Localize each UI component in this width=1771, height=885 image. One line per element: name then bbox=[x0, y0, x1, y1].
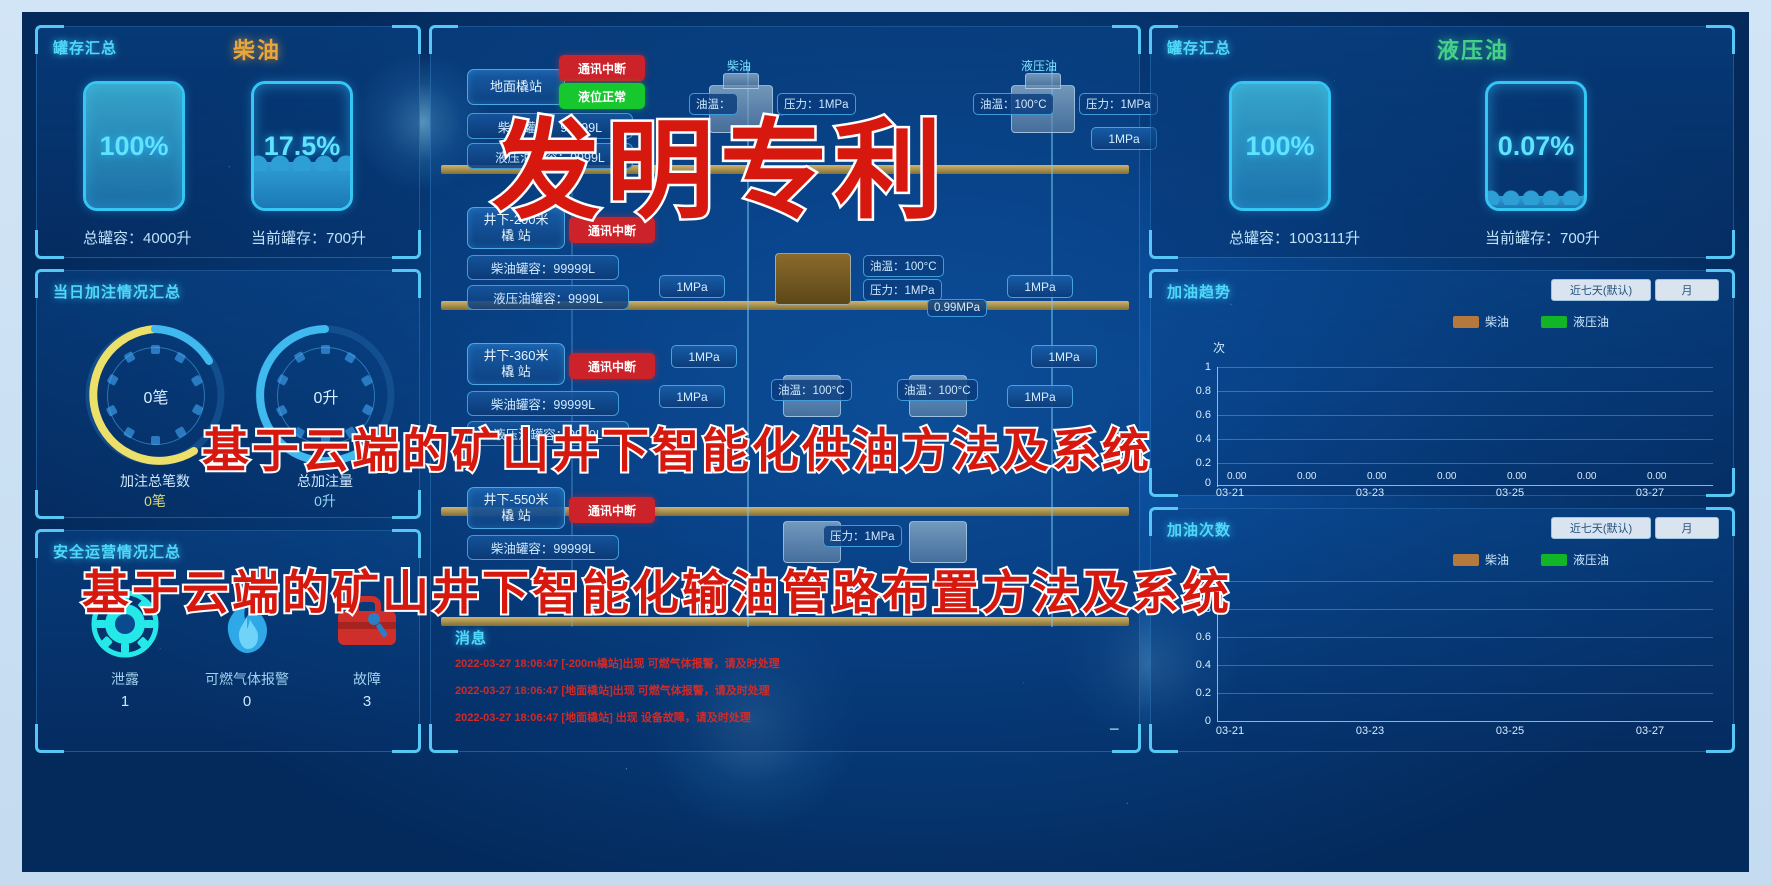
chart-top-point-label: 0.00 bbox=[1227, 471, 1246, 482]
btn-range-month-bottom[interactable]: 月 bbox=[1655, 517, 1719, 539]
status-chip-comm-550: 通讯中断 bbox=[569, 497, 655, 523]
tank-current-stock-diesel: 17.5% 当前罐存：700升 bbox=[251, 81, 366, 248]
tank-current-stock-caption: 当前罐存：700升 bbox=[251, 227, 366, 248]
tank-level-percent-value: 0.07% bbox=[1488, 84, 1584, 208]
pressure-chip-1: 1MPa bbox=[1091, 127, 1157, 150]
chart-bottom-gridline bbox=[1217, 637, 1713, 638]
btn-range-week-bottom[interactable]: 近七天(默认) bbox=[1551, 517, 1651, 539]
station-550-line2: 橇 站 bbox=[483, 508, 548, 524]
chart-bottom-gridline bbox=[1217, 665, 1713, 666]
chart-top-gridline bbox=[1217, 367, 1713, 368]
watermark-patent-title: 发明专利 bbox=[492, 84, 948, 240]
tank-total-capacity-caption: 总罐容：4000升 bbox=[83, 227, 191, 248]
panel-title-chart-top: 加油趋势 bbox=[1167, 281, 1231, 302]
panel-hydraulic-tank-summary: 罐存汇总 液压油 100% 总罐容：1003111升 0.07% 当前罐存：70… bbox=[1150, 26, 1734, 258]
equipment-tank-200 bbox=[775, 253, 851, 305]
panel-title-chart-bottom: 加油次数 bbox=[1167, 519, 1231, 540]
panel-chart-refuel-count: 加油次数 近七天(默认) 月 柴油 液压油 1 0.8 0.6 0.4 0.2 … bbox=[1150, 508, 1734, 752]
equipment-tag-oil-temp-2: 油温：100°C bbox=[973, 93, 1054, 115]
chart-top-gridline bbox=[1217, 391, 1713, 392]
chart-bottom-ytick: 0.2 bbox=[1179, 687, 1211, 699]
capacity-hydraulic-200: 液压油罐容：9999L bbox=[467, 285, 629, 310]
tank-graphic-level: 0.07% bbox=[1485, 81, 1587, 211]
safety-item-fault-label: 故障 bbox=[315, 669, 419, 689]
legend-swatch-diesel bbox=[1453, 316, 1479, 328]
legend-swatch-hydraulic bbox=[1541, 316, 1567, 328]
chart-top-xtick: 03-23 bbox=[1347, 487, 1393, 499]
equipment-label-hydraulic-ground: 液压油 bbox=[1021, 57, 1057, 74]
pressure-chip-6: 1MPa bbox=[659, 385, 725, 408]
panel-chart-refuel-trend: 加油趋势 近七天(默认) 月 柴油 液压油 次 1 0.8 0.6 0.4 0.… bbox=[1150, 270, 1734, 496]
safety-item-fault-value: 3 bbox=[315, 693, 419, 710]
chart-top-point-label: 0.00 bbox=[1507, 471, 1526, 482]
product-label-diesel: 柴油 bbox=[233, 33, 281, 65]
gauge-refuel-count-sub: 0笔 bbox=[99, 491, 211, 511]
chart-top-ytick: 0.4 bbox=[1179, 433, 1211, 445]
tank-total-capacity-diesel: 100% 总罐容：4000升 bbox=[83, 81, 191, 248]
panel-title-tank-summary-right: 罐存汇总 bbox=[1167, 37, 1231, 58]
chart-bottom-xtick: 03-27 bbox=[1627, 725, 1673, 737]
tank-current-stock-caption: 当前罐存：700升 bbox=[1485, 227, 1600, 248]
chart-top-gridline bbox=[1217, 439, 1713, 440]
safety-item-leak-value: 1 bbox=[73, 693, 177, 710]
tank-percent-value: 100% bbox=[86, 84, 182, 208]
chart-top-point-label: 0.00 bbox=[1647, 471, 1666, 482]
station-360-line1: 井下-360米 bbox=[483, 348, 548, 364]
station-name-360[interactable]: 井下-360米 橇 站 bbox=[467, 343, 565, 385]
tank-current-stock-hydraulic: 0.07% 当前罐存：700升 bbox=[1485, 81, 1600, 248]
panel-title-messages: 消息 bbox=[455, 627, 487, 648]
legend-hydraulic-bottom: 液压油 bbox=[1541, 551, 1609, 568]
chart-top-gridline bbox=[1217, 415, 1713, 416]
chart-top-point-label: 0.00 bbox=[1297, 471, 1316, 482]
panel-diesel-tank-summary: 罐存汇总 柴油 100% 总罐容：4000升 17.5% 当前罐存：700升 bbox=[36, 26, 420, 258]
legend-label-hydraulic: 液压油 bbox=[1573, 551, 1609, 568]
equipment-tag-temp-360a: 油温：100°C bbox=[771, 379, 852, 401]
legend-label-diesel: 柴油 bbox=[1485, 551, 1509, 568]
message-log: 2022-03-27 18:06:47 [-200m橇站]出现 可燃气体报警，请… bbox=[455, 655, 780, 725]
gauge-refuel-count-label: 加注总笔数 bbox=[99, 471, 211, 491]
gauge-refuel-count-value: 0笔 bbox=[107, 347, 205, 445]
tank-percent-value: 100% bbox=[1232, 84, 1328, 208]
tank-graphic-level: 17.5% bbox=[251, 81, 353, 211]
capacity-diesel-200: 柴油罐容：99999L bbox=[467, 255, 619, 280]
chart-bottom-xtick: 03-25 bbox=[1487, 725, 1533, 737]
tank-graphic-full: 100% bbox=[1229, 81, 1331, 211]
chart-top-point-label: 0.00 bbox=[1367, 471, 1386, 482]
message-line: 2022-03-27 18:06:47 [地面橇站] 出现 设备故障，请及时处理 bbox=[455, 709, 780, 725]
chart-top-ytick: 0.8 bbox=[1179, 385, 1211, 397]
equipment-tag-press-200: 压力：1MPa bbox=[863, 279, 942, 301]
chart-top-point-label: 0.00 bbox=[1437, 471, 1456, 482]
legend-swatch-diesel bbox=[1453, 554, 1479, 566]
chart-bottom-ytick: 0.6 bbox=[1179, 631, 1211, 643]
dashboard-board: 罐存汇总 柴油 100% 总罐容：4000升 17.5% 当前罐存：700升 当… bbox=[22, 12, 1749, 872]
pressure-chip-5: 1MPa bbox=[1031, 345, 1097, 368]
legend-swatch-hydraulic bbox=[1541, 554, 1567, 566]
chart-bottom-xaxis bbox=[1217, 721, 1713, 722]
legend-label-hydraulic: 液压油 bbox=[1573, 313, 1609, 330]
equipment-tag-press-200b: 0.99MPa bbox=[927, 299, 987, 317]
legend-hydraulic-top: 液压油 bbox=[1541, 313, 1609, 330]
station-550-line1: 井下-550米 bbox=[483, 492, 548, 508]
equipment-tag-temp-550: 压力：1MPa bbox=[823, 525, 902, 547]
chart-bottom-ytick: 0.4 bbox=[1179, 659, 1211, 671]
safety-item-gas-alarm-value: 0 bbox=[185, 693, 309, 710]
equipment-cap-hydraulic-ground bbox=[1025, 73, 1061, 89]
legend-diesel-top: 柴油 bbox=[1453, 313, 1509, 330]
product-label-hydraulic: 液压油 bbox=[1437, 33, 1509, 65]
pressure-chip-4: 1MPa bbox=[671, 345, 737, 368]
chart-top-ylabel: 次 bbox=[1213, 339, 1225, 356]
zoom-out-button[interactable]: − bbox=[1109, 719, 1120, 740]
chart-top-xtick: 03-27 bbox=[1627, 487, 1673, 499]
station-name-550[interactable]: 井下-550米 橇 站 bbox=[467, 487, 565, 529]
tank-total-capacity-caption: 总罐容：1003111升 bbox=[1229, 227, 1360, 248]
safety-item-leak-label: 泄露 bbox=[73, 669, 177, 689]
equipment-tag-pressure-2: 压力：1MPa bbox=[1079, 93, 1158, 115]
chart-bottom-gridline bbox=[1217, 693, 1713, 694]
legend-label-diesel: 柴油 bbox=[1485, 313, 1509, 330]
btn-range-month-top[interactable]: 月 bbox=[1655, 279, 1719, 301]
gauge-refuel-volume-sub: 0升 bbox=[269, 491, 381, 511]
message-line: 2022-03-27 18:06:47 [-200m橇站]出现 可燃气体报警，请… bbox=[455, 655, 780, 671]
chart-top-ytick: 0.6 bbox=[1179, 409, 1211, 421]
equipment-tag-temp-360b: 油温：100°C bbox=[897, 379, 978, 401]
message-line: 2022-03-27 18:06:47 [地面橇站]出现 可燃气体报警，请及时处… bbox=[455, 682, 780, 698]
chart-top-xaxis bbox=[1217, 485, 1713, 486]
station-360-line2: 橇 站 bbox=[483, 364, 548, 380]
chart-bottom-xtick: 03-23 bbox=[1347, 725, 1393, 737]
chart-top-point-label: 0.00 bbox=[1577, 471, 1596, 482]
legend-diesel-bottom: 柴油 bbox=[1453, 551, 1509, 568]
chart-top-xtick: 03-25 bbox=[1487, 487, 1533, 499]
tank-level-percent-value: 17.5% bbox=[254, 84, 350, 208]
pressure-chip-3: 1MPa bbox=[1007, 275, 1073, 298]
tank-graphic-full: 100% bbox=[83, 81, 185, 211]
equipment-label-diesel-ground: 柴油 bbox=[727, 57, 751, 74]
chart-bottom-xtick: 03-21 bbox=[1207, 725, 1253, 737]
panel-title-daily-refuel: 当日加注情况汇总 bbox=[53, 281, 181, 302]
panel-title-tank-summary-left: 罐存汇总 bbox=[53, 37, 117, 58]
pressure-chip-7: 1MPa bbox=[1007, 385, 1073, 408]
chart-bottom-gridline bbox=[1217, 581, 1713, 582]
safety-item-gas-alarm-label: 可燃气体报警 bbox=[185, 669, 309, 689]
chart-top-xtick: 03-21 bbox=[1207, 487, 1253, 499]
equipment-tag-temp-200: 油温：100°C bbox=[863, 255, 944, 277]
watermark-line-2: 基于云端的矿山井下智能化输油管路布置方法及系统 bbox=[82, 554, 1232, 623]
status-chip-comm-ground: 通讯中断 bbox=[559, 55, 645, 81]
dashboard-screenshot: 罐存汇总 柴油 100% 总罐容：4000升 17.5% 当前罐存：700升 当… bbox=[0, 0, 1771, 885]
watermark-line-1: 基于云端的矿山井下智能化供油方法及系统 bbox=[202, 412, 1152, 481]
chart-bottom-gridline bbox=[1217, 609, 1713, 610]
status-chip-comm-360: 通讯中断 bbox=[569, 353, 655, 379]
btn-range-week-top[interactable]: 近七天(默认) bbox=[1551, 279, 1651, 301]
pressure-chip-2: 1MPa bbox=[659, 275, 725, 298]
chart-top-ytick: 0.2 bbox=[1179, 457, 1211, 469]
chart-top-yaxis bbox=[1217, 367, 1218, 487]
chart-top-gridline bbox=[1217, 463, 1713, 464]
tank-total-capacity-hydraulic: 100% 总罐容：1003111升 bbox=[1229, 81, 1360, 248]
chart-top-ytick: 1 bbox=[1185, 361, 1211, 373]
